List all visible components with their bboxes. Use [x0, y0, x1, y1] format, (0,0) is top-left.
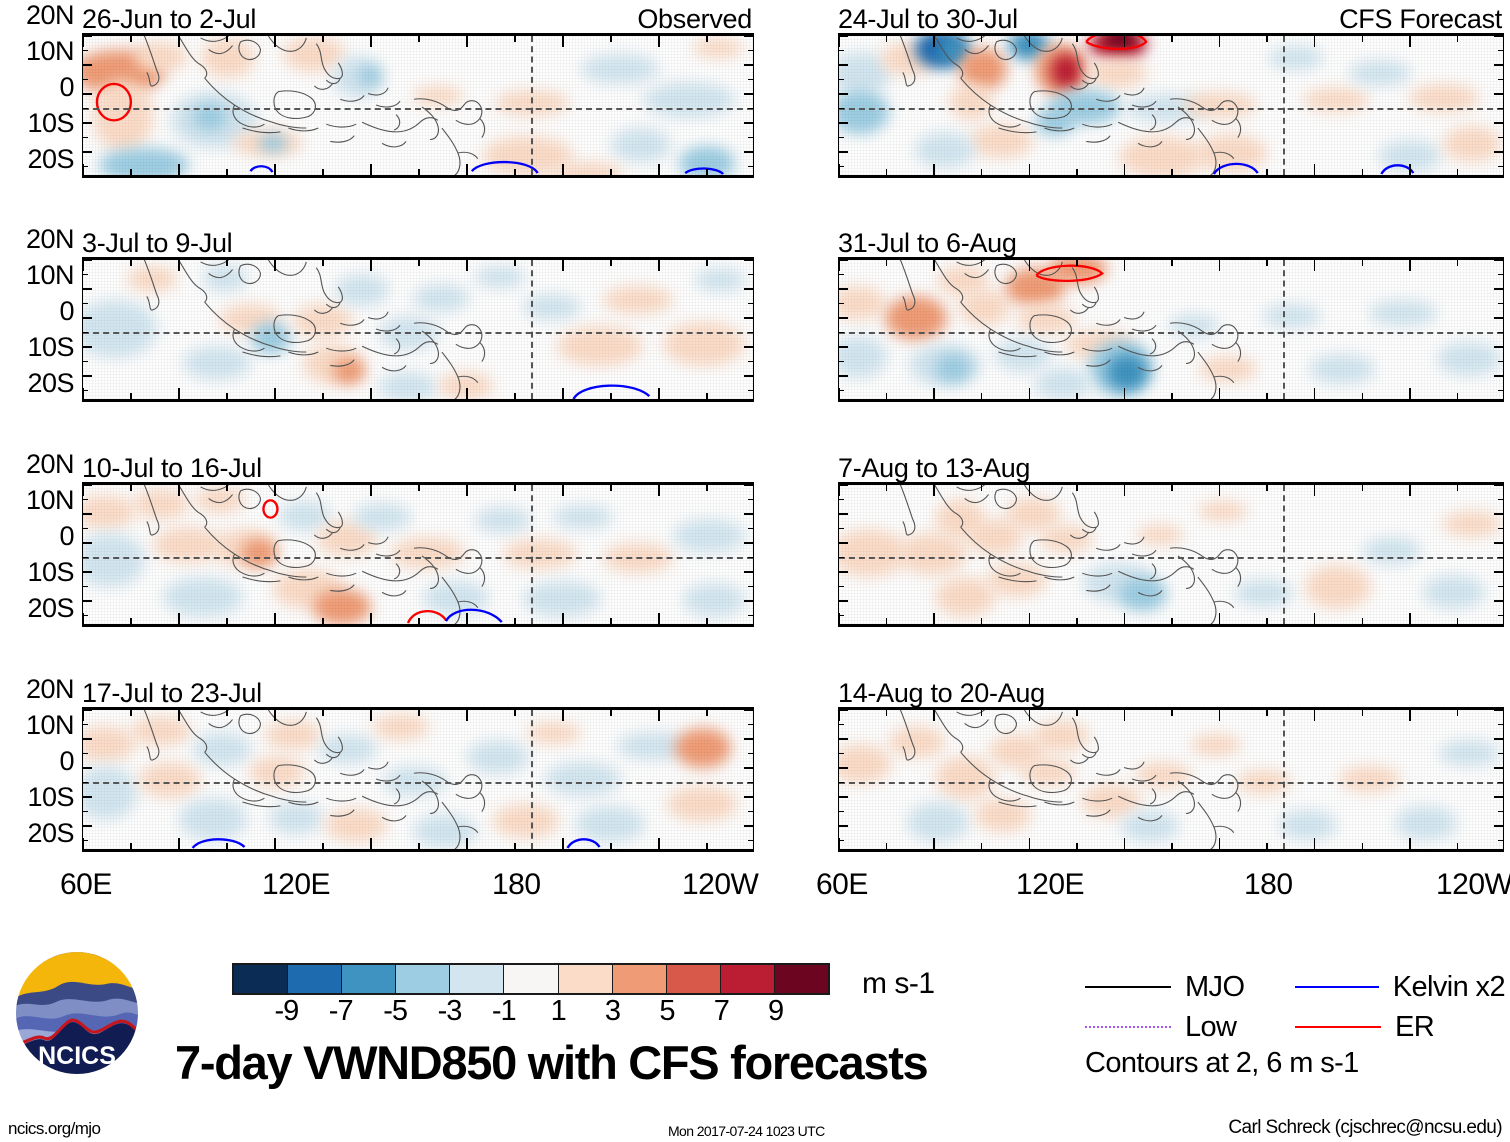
axis-tick [748, 332, 753, 334]
axis-tick [466, 710, 468, 721]
contour-overlay [83, 36, 753, 175]
axis-tick [1171, 260, 1173, 266]
colorbar: -9 -7 -5 -3 -1 1 3 5 7 9 [232, 963, 830, 1029]
axis-tick [274, 485, 276, 496]
axis-tick [1076, 169, 1078, 175]
axis-tick [744, 259, 753, 261]
y-tick-label: 10S [27, 784, 74, 811]
axis-tick [514, 36, 516, 42]
axis-tick [706, 393, 708, 399]
panel-left-2: 3-Jul to 9-Jul [82, 232, 754, 402]
axis-tick [1124, 613, 1126, 624]
dateline [1283, 485, 1285, 624]
axis-tick [839, 825, 848, 827]
axis-tick [1076, 618, 1078, 624]
dateline [531, 485, 533, 624]
colorbar-cell [450, 965, 504, 993]
axis-tick [1494, 825, 1503, 827]
axis-tick [981, 393, 983, 399]
footer-timestamp: Mon 2017-07-24 1023 UTC [668, 1123, 825, 1139]
axis-tick [839, 528, 844, 530]
legend-label: ER [1395, 1011, 1434, 1044]
axis-tick [744, 825, 753, 827]
axis-tick [562, 36, 564, 47]
axis-tick [839, 375, 848, 377]
legend-label: MJO [1185, 971, 1244, 1004]
axis-tick [839, 166, 844, 168]
axis-tick [1457, 618, 1459, 624]
axis-tick [1498, 137, 1503, 139]
y-tick-label: 20N [26, 226, 74, 253]
axis-tick [838, 485, 840, 496]
axis-tick [130, 169, 132, 175]
axis-tick [658, 164, 660, 175]
axis-tick [1457, 169, 1459, 175]
dateline [1283, 710, 1285, 849]
axis-tick [744, 35, 753, 37]
y-tick-label: 0 [59, 748, 74, 775]
axis-tick [748, 79, 753, 81]
axis-tick [418, 618, 420, 624]
x-tick-label: 180 [492, 870, 541, 900]
axis-tick [1124, 260, 1126, 271]
panel-right-2: 31-Jul to 6-Aug [838, 232, 1504, 402]
column-header-cfs-forecast: CFS Forecast [1339, 5, 1502, 33]
axis-tick [1076, 260, 1078, 266]
axis-tick [839, 484, 848, 486]
axis-tick [748, 274, 753, 276]
axis-tick [744, 346, 753, 348]
axis-tick [744, 542, 753, 544]
axis-tick [886, 36, 888, 42]
y-axis-labels-row3: 20N 10N 0 10S 20S [0, 457, 82, 602]
axis-tick [1219, 485, 1221, 496]
y-tick-label: 20N [26, 451, 74, 478]
er-line-icon [1295, 1026, 1381, 1028]
equator-line [83, 332, 753, 334]
axis-tick [83, 151, 92, 153]
axis-tick [839, 361, 844, 363]
axis-tick [83, 724, 88, 726]
axis-tick [178, 164, 180, 175]
axis-tick [1494, 513, 1503, 515]
axis-tick [610, 843, 612, 849]
axis-tick [1498, 753, 1503, 755]
axis-tick [1124, 838, 1126, 849]
axis-tick [562, 485, 564, 496]
axis-tick [1029, 485, 1031, 496]
axis-tick [1494, 64, 1503, 66]
axis-tick [322, 169, 324, 175]
axis-tick [418, 169, 420, 175]
axis-tick [562, 838, 564, 849]
footer-website[interactable]: ncics.org/mjo [8, 1119, 100, 1139]
axis-tick [178, 838, 180, 849]
axis-tick [744, 375, 753, 377]
axis-tick [933, 36, 935, 47]
axis-tick [748, 753, 753, 755]
mjo-line-icon [1085, 986, 1171, 988]
coastline-overlay [839, 485, 1503, 624]
contour-overlay [83, 260, 753, 399]
axis-tick [839, 317, 848, 319]
axis-tick [981, 485, 983, 491]
axis-tick [933, 485, 935, 496]
axis-tick [838, 710, 840, 721]
axis-tick [1124, 164, 1126, 175]
panel-left-1: 26-Jun to 2-Jul Observed [82, 8, 754, 178]
x-tick-label: 60E [60, 870, 112, 900]
axis-tick [226, 843, 228, 849]
legend-label: Kelvin x2 [1393, 971, 1505, 1004]
axis-tick [82, 485, 84, 496]
panel-title: 3-Jul to 9-Jul [82, 229, 232, 257]
axis-tick [744, 513, 753, 515]
line-legend: MJO Kelvin x2 Low ER [1085, 967, 1505, 1047]
axis-tick [981, 843, 983, 849]
axis-tick [1498, 782, 1503, 784]
axis-tick [130, 260, 132, 266]
axis-tick [1494, 571, 1503, 573]
axis-tick [83, 50, 88, 52]
axis-tick [658, 388, 660, 399]
axis-tick [1362, 485, 1364, 491]
y-axis-labels-row1: 20N 10N 0 10S 20S [0, 8, 82, 153]
axis-tick [370, 36, 372, 47]
axis-tick [1498, 390, 1503, 392]
axis-tick [178, 485, 180, 496]
axis-tick [658, 613, 660, 624]
axis-tick [744, 151, 753, 153]
map-plot [82, 257, 754, 402]
axis-tick [839, 64, 848, 66]
map-plot [838, 257, 1504, 402]
axis-tick [1124, 710, 1126, 721]
axis-tick [1219, 36, 1221, 47]
axis-tick [1029, 838, 1031, 849]
axis-tick [839, 600, 848, 602]
colorbar-tick-label: -9 [274, 997, 298, 1026]
x-tick-label: 120W [682, 870, 758, 900]
axis-tick [418, 485, 420, 491]
colorbar-swatches [232, 963, 830, 995]
axis-tick [1494, 259, 1503, 261]
contour-overlay [839, 260, 1503, 399]
x-tick-label: 120W [1436, 870, 1510, 900]
axis-tick [1494, 600, 1503, 602]
axis-tick [1498, 528, 1503, 530]
axis-tick [1219, 388, 1221, 399]
axis-tick [418, 36, 420, 42]
y-tick-label: 20N [26, 676, 74, 703]
axis-tick [1266, 393, 1268, 399]
map-plot [838, 482, 1504, 627]
axis-tick [83, 499, 88, 501]
axis-tick [1498, 840, 1503, 842]
map-plot [838, 707, 1504, 852]
axis-tick [1171, 36, 1173, 42]
axis-tick [178, 613, 180, 624]
axis-tick [658, 260, 660, 271]
axis-tick [886, 843, 888, 849]
panel-title: 17-Jul to 23-Jul [82, 679, 262, 707]
axis-tick [744, 484, 753, 486]
axis-tick [466, 388, 468, 399]
axis-tick [83, 390, 88, 392]
axis-tick [1498, 499, 1503, 501]
axis-tick [744, 600, 753, 602]
axis-tick [130, 618, 132, 624]
axis-tick [706, 485, 708, 491]
axis-tick [1314, 36, 1316, 47]
panel-right-4: 14-Aug to 20-Aug [838, 682, 1504, 852]
axis-tick [274, 260, 276, 271]
axis-tick [370, 485, 372, 496]
axis-tick [370, 613, 372, 624]
panel-right-1: 24-Jul to 30-Jul CFS Forecast [838, 8, 1504, 178]
axis-tick [514, 393, 516, 399]
axis-tick [1314, 710, 1316, 721]
axis-tick [839, 782, 844, 784]
map-plot [82, 482, 754, 627]
axis-tick [178, 36, 180, 47]
axis-tick [83, 332, 88, 334]
axis-tick [1498, 108, 1503, 110]
axis-tick [1498, 50, 1503, 52]
axis-tick [83, 79, 88, 81]
axis-tick [933, 260, 935, 271]
axis-tick [839, 151, 848, 153]
axis-tick [748, 499, 753, 501]
axis-tick [838, 36, 840, 47]
axis-tick [1266, 36, 1268, 42]
map-plot [82, 33, 754, 178]
colorbar-cell [504, 965, 558, 993]
axis-tick [839, 288, 848, 290]
axis-tick [274, 613, 276, 624]
axis-tick [83, 767, 92, 769]
axis-tick [1362, 169, 1364, 175]
contour-overlay [83, 710, 753, 849]
axis-tick [322, 843, 324, 849]
low-line-icon [1085, 1026, 1171, 1028]
axis-tick [933, 164, 935, 175]
panel-title: 10-Jul to 16-Jul [82, 454, 262, 482]
axis-tick [839, 753, 844, 755]
map-plot [82, 707, 754, 852]
axis-tick [1171, 485, 1173, 491]
axis-tick [658, 710, 660, 721]
colorbar-units: m s-1 [862, 967, 935, 1001]
axis-tick [83, 108, 88, 110]
axis-tick [839, 513, 848, 515]
axis-tick [839, 499, 844, 501]
axis-tick [839, 35, 848, 37]
axis-tick [226, 36, 228, 42]
axis-tick [1498, 332, 1503, 334]
y-tick-label: 10N [26, 38, 74, 65]
axis-tick [748, 724, 753, 726]
axis-tick [981, 710, 983, 716]
y-tick-label: 0 [59, 74, 74, 101]
axis-tick [226, 710, 228, 716]
axis-tick [744, 288, 753, 290]
colorbar-cell [559, 965, 613, 993]
axis-tick [886, 710, 888, 716]
panel-title: 31-Jul to 6-Aug [838, 229, 1017, 257]
axis-tick [610, 485, 612, 491]
axis-tick [82, 36, 84, 47]
axis-tick [1029, 36, 1031, 47]
y-tick-label: 10S [27, 110, 74, 137]
axis-tick [82, 710, 84, 721]
axis-tick [370, 388, 372, 399]
axis-tick [1457, 260, 1459, 266]
axis-tick [1498, 557, 1503, 559]
axis-tick [1314, 613, 1316, 624]
axis-tick [1171, 710, 1173, 716]
axis-tick [1076, 393, 1078, 399]
axis-tick [82, 260, 84, 271]
axis-tick [706, 618, 708, 624]
axis-tick [886, 169, 888, 175]
axis-tick [83, 35, 92, 37]
axis-tick [178, 710, 180, 721]
axis-tick [981, 169, 983, 175]
axis-tick [1409, 36, 1411, 47]
axis-tick [748, 361, 753, 363]
axis-tick [839, 840, 844, 842]
axis-tick [83, 738, 92, 740]
axis-tick [1362, 36, 1364, 42]
axis-tick [1498, 811, 1503, 813]
axis-tick [1498, 724, 1503, 726]
axis-tick [744, 709, 753, 711]
axis-tick [83, 274, 88, 276]
axis-tick [748, 557, 753, 559]
axis-tick [562, 260, 564, 271]
axis-tick [466, 164, 468, 175]
axis-tick [83, 93, 92, 95]
axis-tick [1219, 838, 1221, 849]
axis-tick [1494, 346, 1503, 348]
axis-tick [1314, 388, 1316, 399]
axis-tick [1409, 164, 1411, 175]
axis-tick [1409, 838, 1411, 849]
equator-line [83, 557, 753, 559]
axis-tick [886, 393, 888, 399]
axis-tick [610, 36, 612, 42]
axis-tick [658, 36, 660, 47]
axis-tick [562, 164, 564, 175]
legend-label: Low [1185, 1011, 1236, 1044]
axis-tick [466, 36, 468, 47]
axis-tick [83, 600, 92, 602]
axis-tick [839, 709, 848, 711]
x-tick-label: 180 [1244, 870, 1293, 900]
colorbar-tick-label: -1 [492, 997, 516, 1026]
axis-tick [274, 838, 276, 849]
axis-tick [1266, 843, 1268, 849]
axis-tick [514, 169, 516, 175]
axis-tick [1362, 710, 1364, 716]
contour-overlay [839, 36, 1503, 175]
axis-tick [839, 767, 848, 769]
axis-tick [274, 710, 276, 721]
y-tick-label: 10S [27, 334, 74, 361]
equator-line [83, 108, 753, 110]
axis-tick [226, 260, 228, 266]
axis-tick [748, 137, 753, 139]
axis-tick [744, 796, 753, 798]
x-tick-label: 120E [1016, 870, 1084, 900]
axis-tick [839, 259, 848, 261]
axis-tick [322, 36, 324, 42]
axis-tick [706, 260, 708, 266]
axis-tick [226, 169, 228, 175]
axis-tick [130, 393, 132, 399]
axis-tick [1362, 618, 1364, 624]
axis-tick [1314, 485, 1316, 496]
axis-tick [933, 388, 935, 399]
axis-tick [839, 615, 844, 617]
axis-tick [933, 838, 935, 849]
dateline [531, 260, 533, 399]
axis-tick [226, 618, 228, 624]
axis-tick [886, 618, 888, 624]
x-tick-label: 120E [262, 870, 330, 900]
axis-tick [1124, 36, 1126, 47]
map-plot [838, 33, 1504, 178]
axis-tick [1029, 613, 1031, 624]
axis-tick [226, 393, 228, 399]
axis-tick [1219, 710, 1221, 721]
footer-author[interactable]: Carl Schreck (cjschrec@ncsu.edu) [1228, 1117, 1502, 1139]
axis-tick [83, 615, 88, 617]
axis-tick [706, 169, 708, 175]
axis-tick [610, 393, 612, 399]
axis-tick [322, 618, 324, 624]
axis-tick [83, 782, 88, 784]
panel-right-3: 7-Aug to 13-Aug [838, 457, 1504, 627]
axis-tick [1076, 710, 1078, 716]
axis-tick [514, 843, 516, 849]
axis-tick [1314, 164, 1316, 175]
y-tick-label: 10N [26, 487, 74, 514]
colorbar-ticklabels: -9 -7 -5 -3 -1 1 3 5 7 9 [232, 995, 830, 1029]
y-tick-label: 20S [27, 146, 74, 173]
axis-tick [981, 260, 983, 266]
axis-tick [83, 166, 88, 168]
colorbar-cell [667, 965, 721, 993]
axis-tick [83, 513, 92, 515]
axis-tick [886, 485, 888, 491]
axis-tick [130, 36, 132, 42]
axis-tick [839, 332, 844, 334]
axis-tick [83, 586, 88, 588]
axis-tick [744, 93, 753, 95]
axis-tick [748, 586, 753, 588]
axis-tick [1494, 317, 1503, 319]
axis-tick [839, 557, 844, 559]
axis-tick [839, 122, 848, 124]
axis-tick [610, 618, 612, 624]
axis-tick [1494, 542, 1503, 544]
colorbar-tick-label: 1 [551, 997, 566, 1026]
axis-tick [839, 274, 844, 276]
axis-tick [1409, 388, 1411, 399]
axis-tick [83, 840, 88, 842]
